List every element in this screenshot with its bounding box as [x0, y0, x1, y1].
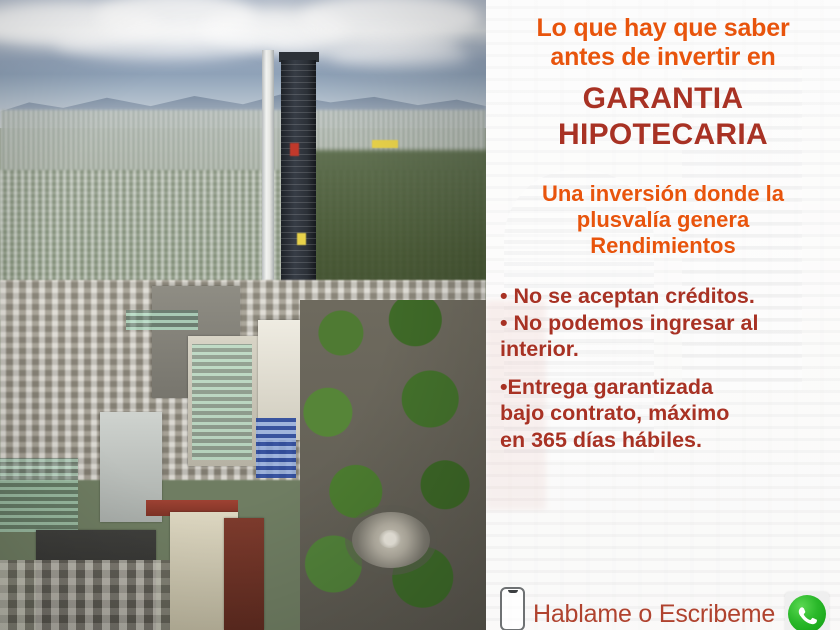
bullet-item: interior. — [500, 336, 832, 363]
bullet-list: • No se aceptan créditos. • No podemos i… — [486, 259, 840, 454]
subheadline-line-3: Rendimientos — [496, 233, 830, 259]
fountain — [379, 530, 401, 548]
green-glass-facade — [0, 458, 78, 532]
tower-accent — [290, 143, 299, 156]
brand-title: GARANTIA HIPOTECARIA — [486, 71, 840, 153]
cloud-shape — [55, 26, 265, 60]
brand-line-1: GARANTIA — [492, 81, 834, 117]
tree-lined-boulevard — [300, 300, 486, 630]
bullet-item: • No se aceptan créditos. — [500, 283, 832, 310]
subheadline-line-2: plusvalía genera — [496, 207, 830, 233]
bullet-item: •Entrega garantizada — [500, 374, 832, 401]
headline-line-1: Lo que hay que saber — [494, 14, 832, 43]
bullet-item: en 365 días hábiles. — [500, 427, 832, 454]
content-inner: Lo que hay que saber antes de invertir e… — [486, 0, 840, 630]
poster-canvas: Lo que hay que saber antes de invertir e… — [0, 0, 840, 630]
road-accent — [372, 140, 398, 148]
subheadline: Una inversión donde la plusvalía genera … — [486, 153, 840, 259]
contact-bar[interactable]: Hablame o Escribeme — [486, 578, 840, 630]
whatsapp-button[interactable] — [785, 592, 829, 630]
blue-glass-facade — [256, 418, 296, 478]
green-glass-facade — [126, 310, 198, 330]
building-block — [224, 518, 264, 630]
tower-accent — [297, 233, 306, 245]
green-glass-facade — [192, 344, 252, 460]
bullet-item: bajo contrato, máximo — [500, 400, 832, 427]
subheadline-line-1: Una inversión donde la — [496, 181, 830, 207]
whatsapp-icon — [788, 595, 826, 630]
low-rooftops — [0, 560, 170, 630]
cloud-shape — [330, 44, 470, 68]
dark-glass-tower — [281, 60, 316, 305]
smartphone-icon — [500, 587, 525, 630]
cityscape-photo — [0, 0, 486, 630]
contact-text: Hablame o Escribeme — [533, 600, 775, 629]
brand-line-2: HIPOTECARIA — [492, 117, 834, 153]
headline: Lo que hay que saber antes de invertir e… — [486, 0, 840, 71]
headline-line-2: antes de invertir en — [494, 43, 832, 72]
content-panel: Lo que hay que saber antes de invertir e… — [486, 0, 840, 630]
bullet-item: • No podemos ingresar al — [500, 310, 832, 337]
